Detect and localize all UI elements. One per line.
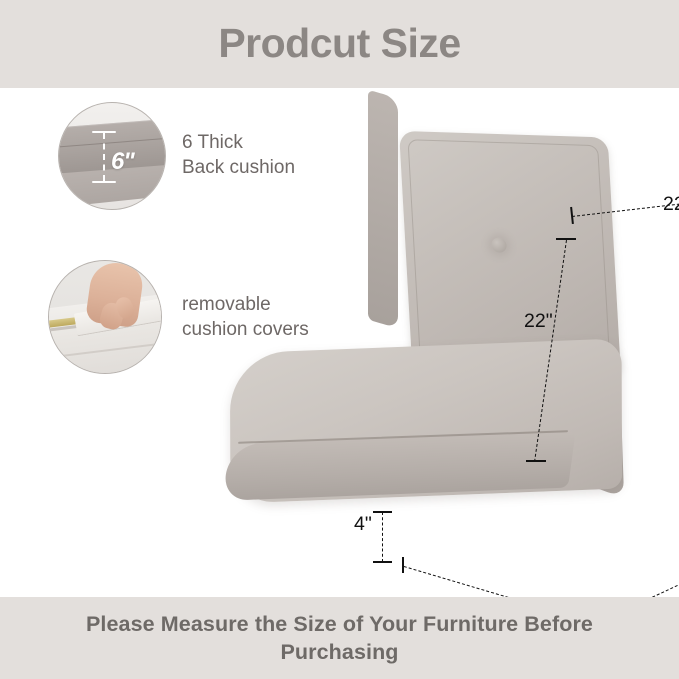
dimension-cap: [373, 561, 392, 563]
thickness-dimension-marker: [103, 129, 105, 185]
back-cushion: [399, 131, 621, 375]
product-size-infographic: Prodcut Size 6" 6 Thick Back cushion: [0, 0, 679, 679]
back-cushion-side-panel: [368, 90, 398, 329]
dimension-dashed-line: [103, 133, 105, 181]
header-band: Prodcut Size: [0, 0, 679, 88]
dimension-label-back-width: 22": [663, 193, 679, 216]
body-area: 6" 6 Thick Back cushion removable: [0, 88, 679, 597]
tufted-button: [491, 237, 507, 252]
dimension-line-seat-depth: [404, 566, 591, 597]
footer-advisory-text: Please Measure the Size of Your Furnitur…: [0, 610, 679, 667]
dimension-line-seat-width: [598, 545, 679, 597]
dimension-line-seat-thickness: [382, 512, 383, 562]
cushion-set-illustration: 22" 6" 22" 4" 22" 24": [168, 88, 679, 597]
dimension-label-back-height: 22": [524, 310, 553, 333]
thickness-value-label: 6": [111, 148, 134, 176]
page-title: Prodcut Size: [218, 23, 460, 64]
dimension-label-seat-thickness: 4": [354, 513, 372, 536]
footer-band: Please Measure the Size of Your Furnitur…: [0, 597, 679, 679]
photo-removable-cover: [48, 260, 162, 374]
photo-back-cushion-side: 6": [58, 102, 166, 210]
dimension-cap: [526, 460, 546, 462]
